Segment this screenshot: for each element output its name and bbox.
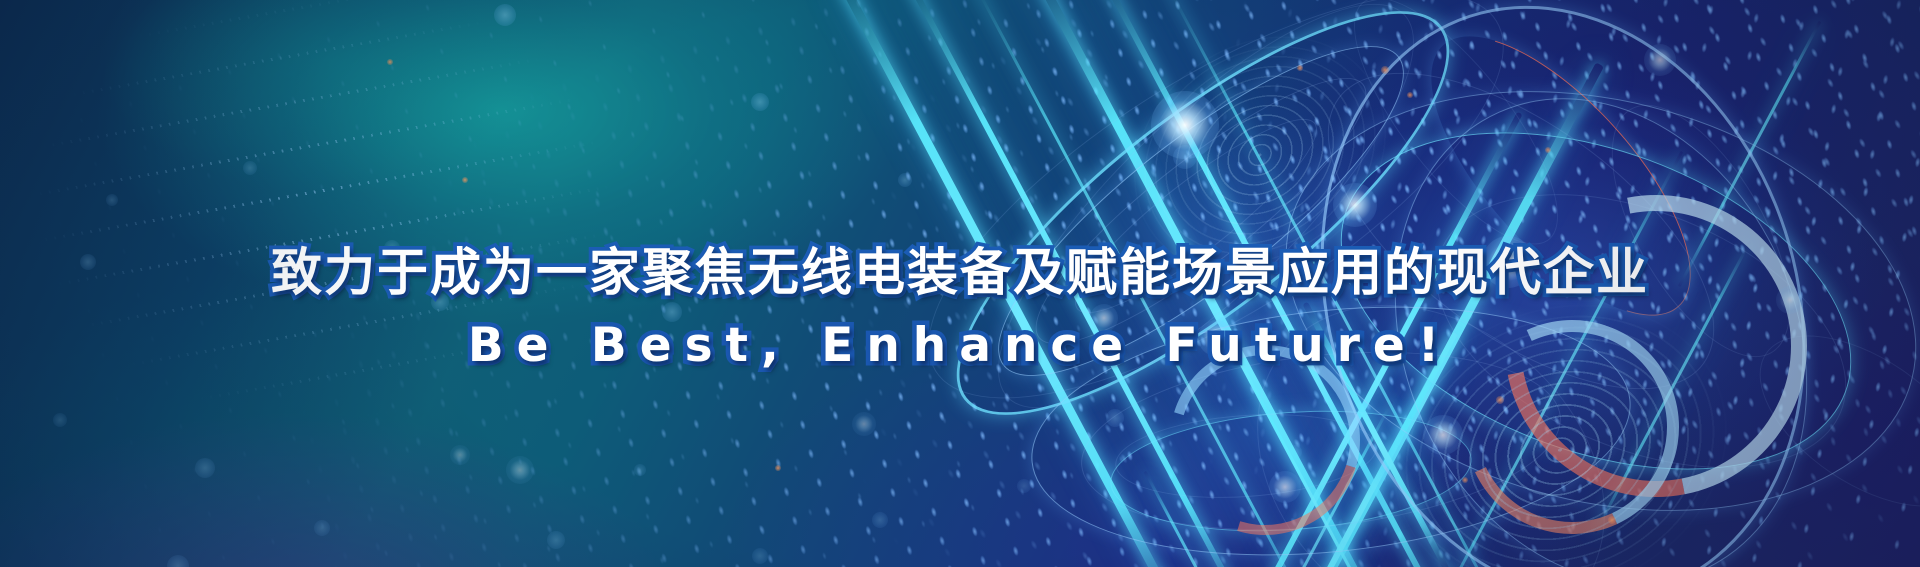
orange-spark: [1608, 516, 1616, 524]
headline-english: Be Best, Enhance Future!: [0, 313, 1920, 379]
bokeh-dot: [167, 555, 189, 567]
bokeh-dot: [634, 464, 646, 476]
headline-chinese: 致力于成为一家聚焦无线电装备及赋能场景应用的现代企业: [0, 243, 1920, 303]
orange-spark: [1407, 92, 1413, 98]
lens-flare: [1423, 415, 1463, 455]
lens-flare: [1151, 91, 1219, 159]
bokeh-dot: [494, 4, 516, 26]
lens-flare: [1333, 183, 1377, 227]
orange-spark: [1462, 477, 1468, 483]
bokeh-dot: [872, 512, 888, 528]
bokeh-dot: [243, 161, 257, 175]
bokeh-dot: [752, 548, 768, 564]
bokeh-dot: [106, 194, 118, 206]
lens-flare: [1644, 44, 1676, 76]
lens-flare: [450, 445, 470, 465]
orange-spark: [1496, 396, 1504, 404]
bokeh-dot: [751, 93, 769, 111]
lens-flare: [1269, 471, 1301, 503]
bokeh-dot: [195, 458, 215, 478]
headline-block: 致力于成为一家聚焦无线电装备及赋能场景应用的现代企业 Be Best, Enha…: [0, 243, 1920, 379]
bokeh-dot: [53, 413, 67, 427]
bokeh-dot: [314, 520, 330, 536]
lens-flare: [852, 412, 876, 436]
bokeh-dot: [1017, 479, 1031, 493]
orange-spark: [775, 465, 781, 471]
orange-spark: [1297, 65, 1303, 71]
orange-spark: [1381, 66, 1389, 74]
hero-banner: 致力于成为一家聚焦无线电装备及赋能场景应用的现代企业 Be Best, Enha…: [0, 0, 1920, 567]
orange-spark: [462, 177, 468, 183]
lens-flare: [506, 456, 534, 484]
bokeh-dot: [547, 531, 565, 549]
bokeh-dot: [898, 173, 912, 187]
orange-spark: [387, 59, 393, 65]
orange-spark: [1545, 147, 1551, 153]
